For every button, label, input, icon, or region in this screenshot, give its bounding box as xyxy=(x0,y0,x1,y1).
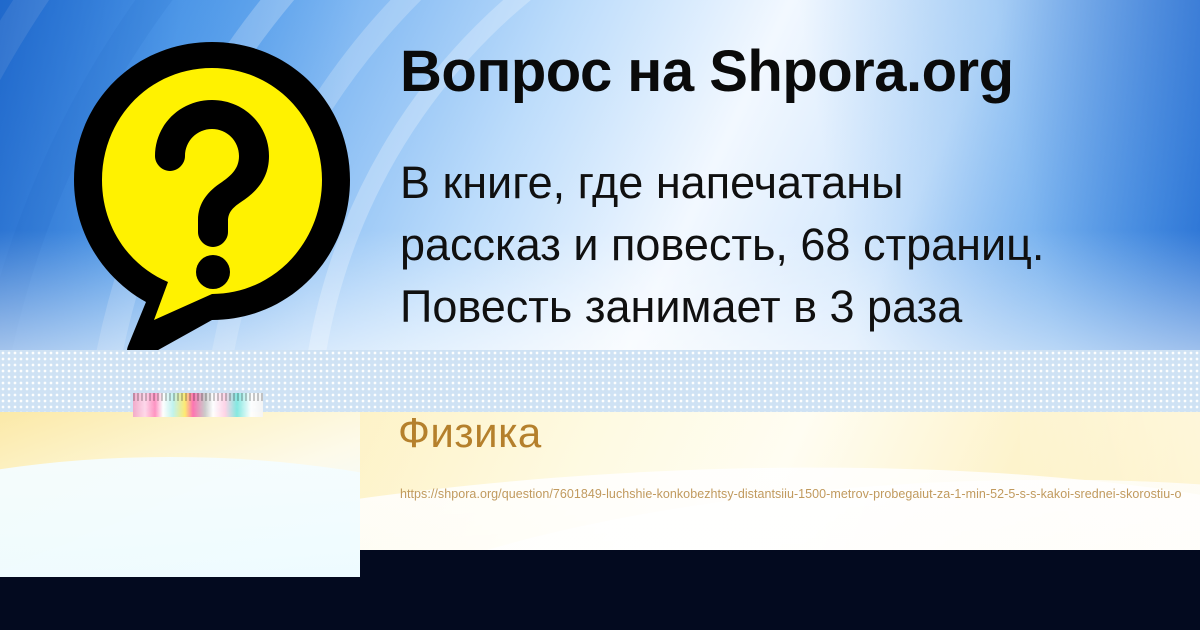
footer-bar-right xyxy=(360,550,1200,630)
page-title: Вопрос на Shpora.org xyxy=(400,42,1014,103)
decorative-highlight xyxy=(1020,412,1200,550)
footer-bar-left xyxy=(0,577,360,630)
question-mark-speech-bubble-icon xyxy=(62,28,362,368)
question-line-2: рассказ и повесть, 68 страниц. xyxy=(400,214,1200,276)
question-line-1: В книге, где напечатаны xyxy=(400,152,1200,214)
subject-label: Физика xyxy=(398,409,542,457)
compression-artifact-overlay xyxy=(133,393,263,401)
source-url[interactable]: https://shpora.org/question/7601849-luch… xyxy=(400,487,1200,501)
question-text: В книге, где напечатаны рассказ и повест… xyxy=(400,152,1200,338)
screenshot-canvas: Вопрос на Shpora.org В книге, где напеча… xyxy=(0,0,1200,630)
question-line-3: Повесть занимает в 3 раза xyxy=(400,276,1200,338)
preview-card-left: .html xyxy=(0,412,360,577)
decorative-swoosh xyxy=(0,457,360,577)
